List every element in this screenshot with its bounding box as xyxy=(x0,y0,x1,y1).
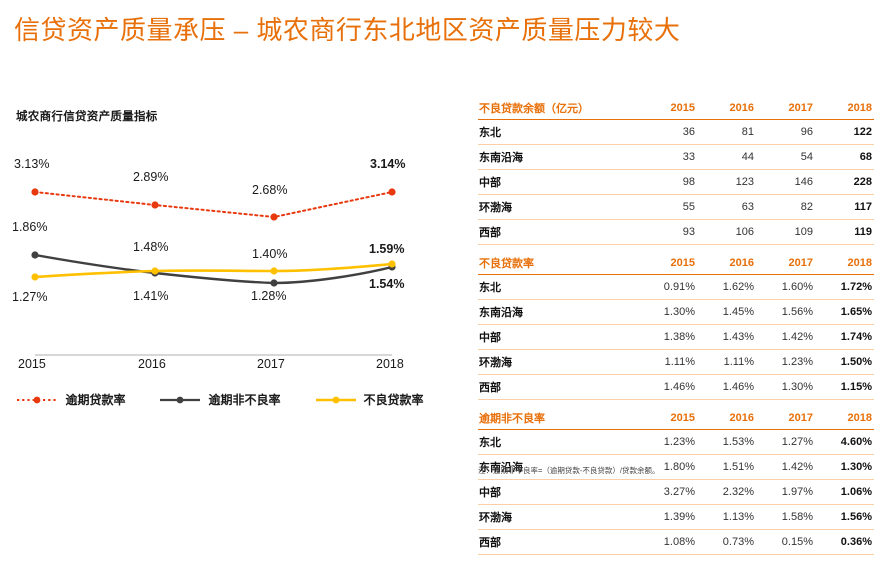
cell-value: 1.30% xyxy=(815,455,874,480)
cell-value: 54 xyxy=(756,145,815,170)
cell-value: 1.42% xyxy=(756,325,815,350)
tables-panel: 不良贷款余额（亿元） 2015 2016 2017 2018 东北 36 81 … xyxy=(478,100,874,565)
cell-value: 82 xyxy=(756,195,815,220)
cell-value: 123 xyxy=(697,170,756,195)
row-label: 西部 xyxy=(478,375,638,400)
cell-value: 1.72% xyxy=(815,275,874,300)
row-label: 西部 xyxy=(478,530,638,555)
data-label-npl-2016: 1.41% xyxy=(133,289,168,303)
series-point-overdue xyxy=(388,188,395,195)
cell-value: 1.56% xyxy=(756,300,815,325)
series-point-overdue xyxy=(270,213,277,220)
line-chart-plot: 3.13% 2.89% 2.68% 3.14% 1.86% 1.48% 1.28… xyxy=(0,95,455,385)
series-point-overdue xyxy=(31,188,38,195)
col-header-2017: 2017 xyxy=(756,255,815,275)
legend-marker-npl-icon xyxy=(315,394,357,406)
cell-value: 0.73% xyxy=(697,530,756,555)
cell-value: 1.60% xyxy=(756,275,815,300)
cell-value: 0.36% xyxy=(815,530,874,555)
cell-value: 1.23% xyxy=(638,430,697,455)
data-label-nonnpl-2018: 1.59% xyxy=(369,242,404,256)
table-row: 东北 0.91% 1.62% 1.60% 1.72% xyxy=(478,275,874,300)
table-row: 东南沿海 33 44 54 68 xyxy=(478,145,874,170)
legend-label-npl: 不良贷款率 xyxy=(364,391,424,408)
table-title-npl-ratio: 不良贷款率 xyxy=(478,255,638,275)
series-point-overdue xyxy=(151,201,158,208)
legend-marker-nonnpl-icon xyxy=(159,394,201,406)
legend-item-overdue[interactable]: 逾期贷款率 xyxy=(16,391,125,408)
cell-value: 3.27% xyxy=(638,480,697,505)
cell-value: 1.27% xyxy=(756,430,815,455)
col-header-2018: 2018 xyxy=(815,410,874,430)
cell-value: 1.38% xyxy=(638,325,697,350)
cell-value: 1.13% xyxy=(697,505,756,530)
series-line-overdue xyxy=(35,192,392,217)
cell-value: 1.23% xyxy=(756,350,815,375)
cell-value: 1.30% xyxy=(638,300,697,325)
row-label: 东南沿海 xyxy=(478,145,638,170)
data-label-npl-2015: 1.27% xyxy=(12,290,47,304)
x-tick-2017: 2017 xyxy=(257,357,285,371)
cell-value: 4.60% xyxy=(815,430,874,455)
table-row: 东南沿海 1.30% 1.45% 1.56% 1.65% xyxy=(478,300,874,325)
table-row: 东北 36 81 96 122 xyxy=(478,120,874,145)
cell-value: 1.11% xyxy=(697,350,756,375)
table-header-row: 不良贷款余额（亿元） 2015 2016 2017 2018 xyxy=(478,100,874,120)
legend-item-npl[interactable]: 不良贷款率 xyxy=(315,391,424,408)
row-label: 中部 xyxy=(478,325,638,350)
col-header-2018: 2018 xyxy=(815,100,874,120)
cell-value: 1.97% xyxy=(756,480,815,505)
table-row: 中部 3.27% 2.32% 1.97% 1.06% xyxy=(478,480,874,505)
row-label: 环渤海 xyxy=(478,505,638,530)
cell-value: 1.58% xyxy=(756,505,815,530)
series-point-nonnpl xyxy=(270,279,277,286)
cell-value: 33 xyxy=(638,145,697,170)
cell-value: 98 xyxy=(638,170,697,195)
table-row: 环渤海 1.11% 1.11% 1.23% 1.50% xyxy=(478,350,874,375)
series-point-npl xyxy=(151,267,158,274)
table-row: 西部 1.46% 1.46% 1.30% 1.15% xyxy=(478,375,874,400)
chart-svg xyxy=(0,95,455,385)
data-label-nonnpl-2015: 1.86% xyxy=(12,220,47,234)
cell-value: 122 xyxy=(815,120,874,145)
cell-value: 81 xyxy=(697,120,756,145)
col-header-2016: 2016 xyxy=(697,255,756,275)
cell-value: 1.65% xyxy=(815,300,874,325)
table-row: 环渤海 55 63 82 117 xyxy=(478,195,874,220)
cell-value: 44 xyxy=(697,145,756,170)
cell-value: 117 xyxy=(815,195,874,220)
cell-value: 1.56% xyxy=(815,505,874,530)
footnote: 注：逾期非不良率=（逾期贷款-不良贷款）/贷款余额。 xyxy=(478,465,659,476)
series-point-npl xyxy=(31,273,38,280)
table-npl-ratio: 不良贷款率 2015 2016 2017 2018 东北 0.91% 1.62%… xyxy=(478,255,874,400)
table-overdue-nonnpl-ratio: 逾期非不良率 2015 2016 2017 2018 东北 1.23% 1.53… xyxy=(478,410,874,555)
col-header-2017: 2017 xyxy=(756,100,815,120)
cell-value: 119 xyxy=(815,220,874,245)
x-tick-2018: 2018 xyxy=(376,357,404,371)
data-label-npl-2017: 1.40% xyxy=(252,247,287,261)
series-point-nonnpl xyxy=(31,251,38,258)
cell-value: 1.11% xyxy=(638,350,697,375)
col-header-2015: 2015 xyxy=(638,255,697,275)
cell-value: 146 xyxy=(756,170,815,195)
col-header-2016: 2016 xyxy=(697,410,756,430)
x-tick-2015: 2015 xyxy=(18,357,46,371)
data-label-overdue-2016: 2.89% xyxy=(133,170,168,184)
table-row: 西部 93 106 109 119 xyxy=(478,220,874,245)
col-header-2016: 2016 xyxy=(697,100,756,120)
legend-label-nonnpl: 逾期非不良率 xyxy=(208,391,280,408)
table-row: 环渤海 1.39% 1.13% 1.58% 1.56% xyxy=(478,505,874,530)
col-header-2015: 2015 xyxy=(638,410,697,430)
chart-panel: 城农商行信贷资产质量指标 xyxy=(0,95,455,435)
cell-value: 1.06% xyxy=(815,480,874,505)
cell-value: 1.45% xyxy=(697,300,756,325)
cell-value: 1.74% xyxy=(815,325,874,350)
series-line-npl xyxy=(35,264,392,277)
data-label-nonnpl-2016: 1.48% xyxy=(133,240,168,254)
data-label-npl-2018: 1.54% xyxy=(369,277,404,291)
col-header-2018: 2018 xyxy=(815,255,874,275)
row-label: 环渤海 xyxy=(478,350,638,375)
data-label-nonnpl-2017: 1.28% xyxy=(251,289,286,303)
cell-value: 106 xyxy=(697,220,756,245)
table-row: 中部 98 123 146 228 xyxy=(478,170,874,195)
legend-item-nonnpl[interactable]: 逾期非不良率 xyxy=(159,391,280,408)
series-point-npl xyxy=(388,260,395,267)
table-title-overdue-nonnpl: 逾期非不良率 xyxy=(478,410,638,430)
cell-value: 1.39% xyxy=(638,505,697,530)
cell-value: 2.32% xyxy=(697,480,756,505)
row-label: 中部 xyxy=(478,170,638,195)
col-header-2015: 2015 xyxy=(638,100,697,120)
cell-value: 109 xyxy=(756,220,815,245)
cell-value: 0.15% xyxy=(756,530,815,555)
row-label: 中部 xyxy=(478,480,638,505)
cell-value: 1.46% xyxy=(638,375,697,400)
cell-value: 93 xyxy=(638,220,697,245)
cell-value: 228 xyxy=(815,170,874,195)
cell-value: 1.51% xyxy=(697,455,756,480)
cell-value: 1.50% xyxy=(815,350,874,375)
slide-root: 信贷资产质量承压 – 城农商行东北地区资产质量压力较大 城农商行信贷资产质量指标 xyxy=(0,0,883,486)
cell-value: 68 xyxy=(815,145,874,170)
data-label-overdue-2018: 3.14% xyxy=(370,157,405,171)
cell-value: 1.15% xyxy=(815,375,874,400)
cell-value: 96 xyxy=(756,120,815,145)
cell-value: 63 xyxy=(697,195,756,220)
row-label: 环渤海 xyxy=(478,195,638,220)
cell-value: 1.30% xyxy=(756,375,815,400)
table-row: 中部 1.38% 1.43% 1.42% 1.74% xyxy=(478,325,874,350)
cell-value: 1.43% xyxy=(697,325,756,350)
col-header-2017: 2017 xyxy=(756,410,815,430)
table-row: 西部 1.08% 0.73% 0.15% 0.36% xyxy=(478,530,874,555)
row-label: 东南沿海 xyxy=(478,300,638,325)
chart-legend: 逾期贷款率 逾期非不良率 不良贷款率 xyxy=(0,391,440,408)
legend-marker-overdue-icon xyxy=(16,394,58,406)
table-row: 东北 1.23% 1.53% 1.27% 4.60% xyxy=(478,430,874,455)
x-tick-2016: 2016 xyxy=(138,357,166,371)
row-label: 西部 xyxy=(478,220,638,245)
legend-label-overdue: 逾期贷款率 xyxy=(65,391,125,408)
row-label: 东北 xyxy=(478,120,638,145)
cell-value: 0.91% xyxy=(638,275,697,300)
series-point-npl xyxy=(270,267,277,274)
x-axis-labels: 2015 2016 2017 2018 xyxy=(0,345,455,385)
page-title: 信贷资产质量承压 – 城农商行东北地区资产质量压力较大 xyxy=(14,10,680,47)
table-header-row: 不良贷款率 2015 2016 2017 2018 xyxy=(478,255,874,275)
table-npl-balance: 不良贷款余额（亿元） 2015 2016 2017 2018 东北 36 81 … xyxy=(478,100,874,245)
table-header-row: 逾期非不良率 2015 2016 2017 2018 xyxy=(478,410,874,430)
cell-value: 1.42% xyxy=(756,455,815,480)
cell-value: 1.46% xyxy=(697,375,756,400)
row-label: 东北 xyxy=(478,430,638,455)
row-label: 东北 xyxy=(478,275,638,300)
cell-value: 1.53% xyxy=(697,430,756,455)
cell-value: 1.62% xyxy=(697,275,756,300)
cell-value: 36 xyxy=(638,120,697,145)
data-label-overdue-2015: 3.13% xyxy=(14,157,49,171)
cell-value: 1.08% xyxy=(638,530,697,555)
cell-value: 55 xyxy=(638,195,697,220)
data-label-overdue-2017: 2.68% xyxy=(252,183,287,197)
table-title-npl-balance: 不良贷款余额（亿元） xyxy=(478,100,638,120)
